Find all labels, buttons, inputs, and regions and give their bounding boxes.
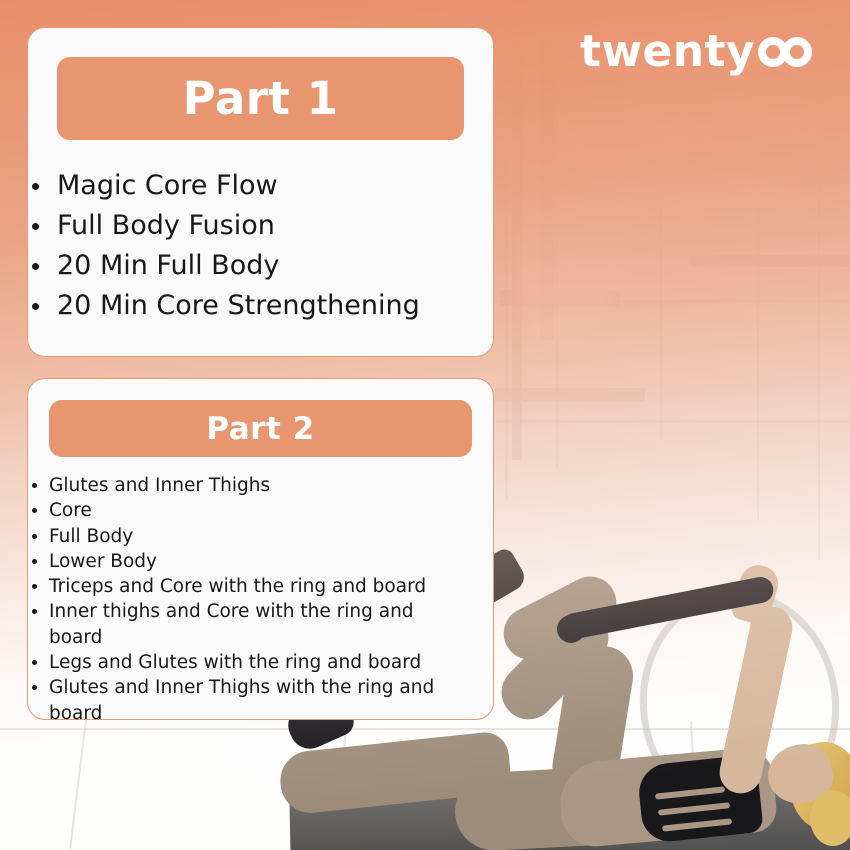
brand-logo: twenty bbox=[580, 30, 818, 74]
part-2-card: Part 2 Glutes and Inner Thighs Core Full… bbox=[27, 378, 494, 720]
hair bbox=[810, 790, 850, 846]
infinity-icon bbox=[758, 37, 818, 69]
part-1-list: Magic Core Flow Full Body Fusion 20 Min … bbox=[57, 166, 464, 326]
part-1-card: Part 1 Magic Core Flow Full Body Fusion … bbox=[27, 27, 494, 357]
list-item: 20 Min Core Strengthening bbox=[57, 286, 464, 326]
list-item: Triceps and Core with the ring and board bbox=[49, 574, 472, 599]
list-item: 20 Min Full Body bbox=[57, 246, 464, 286]
logo-wordmark: twenty bbox=[580, 30, 755, 74]
part-2-list: Glutes and Inner Thighs Core Full Body L… bbox=[49, 473, 472, 726]
list-item: Legs and Glutes with the ring and board bbox=[49, 650, 472, 675]
promo-graphic: twenty Part 1 Magic Core Flow Full Body … bbox=[0, 0, 850, 850]
list-item: Core bbox=[49, 498, 472, 523]
part-1-header: Part 1 bbox=[57, 57, 464, 140]
list-item: Full Body bbox=[49, 524, 472, 549]
list-item: Magic Core Flow bbox=[57, 166, 464, 206]
list-item: Lower Body bbox=[49, 549, 472, 574]
list-item: Full Body Fusion bbox=[57, 206, 464, 246]
resistance-bar-knob bbox=[557, 615, 585, 643]
list-item: Glutes and Inner Thighs with the ring an… bbox=[49, 675, 472, 726]
part-2-header: Part 2 bbox=[49, 400, 472, 457]
list-item: Inner thighs and Core with the ring and … bbox=[49, 599, 472, 650]
list-item: Glutes and Inner Thighs bbox=[49, 473, 472, 498]
